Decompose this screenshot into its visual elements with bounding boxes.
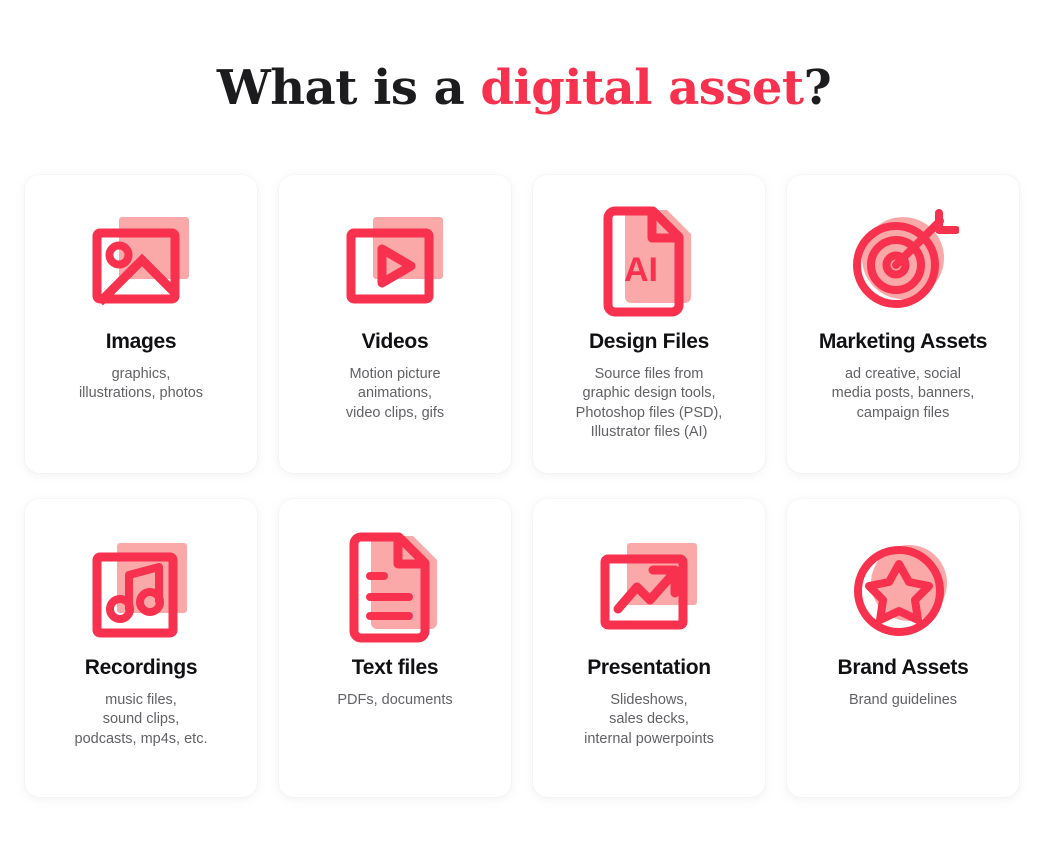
design-file-icon-label: AI <box>624 251 658 289</box>
asset-card-brand-assets[interactable]: Brand Assets Brand guidelines <box>787 499 1019 797</box>
card-title: Images <box>106 329 177 354</box>
text-file-icon <box>335 529 455 649</box>
asset-card-design-files[interactable]: AI Design Files Source files from graphi… <box>533 175 765 473</box>
card-title: Design Files <box>589 329 709 354</box>
page-title-accent: digital asset <box>480 60 803 116</box>
card-description: Source files from graphic design tools, … <box>566 365 733 442</box>
chart-presentation-icon <box>589 529 709 649</box>
asset-card-text-files[interactable]: Text files PDFs, documents <box>279 499 511 797</box>
card-title: Recordings <box>85 655 198 680</box>
page-title-prefix: What is a <box>217 60 481 116</box>
card-description: graphics, illustrations, photos <box>69 365 213 404</box>
asset-card-videos[interactable]: Videos Motion picture animations, video … <box>279 175 511 473</box>
design-file-ai-icon: AI <box>589 203 709 323</box>
card-description: Brand guidelines <box>839 691 967 710</box>
asset-type-grid: Images graphics, illustrations, photos V… <box>25 175 1023 797</box>
star-badge-icon <box>843 529 963 649</box>
card-title: Brand Assets <box>837 655 968 680</box>
card-description: PDFs, documents <box>327 691 462 710</box>
card-description: Motion picture animations, video clips, … <box>336 365 454 423</box>
card-description: ad creative, social media posts, banners… <box>822 365 985 423</box>
asset-card-marketing-assets[interactable]: Marketing Assets ad creative, social med… <box>787 175 1019 473</box>
asset-card-recordings[interactable]: Recordings music files, sound clips, pod… <box>25 499 257 797</box>
card-title: Text files <box>352 655 438 680</box>
page-title-suffix: ? <box>804 60 832 116</box>
card-description: music files, sound clips, podcasts, mp4s… <box>65 691 218 749</box>
video-icon <box>335 203 455 323</box>
asset-card-images[interactable]: Images graphics, illustrations, photos <box>25 175 257 473</box>
card-description: Slideshows, sales decks, internal powerp… <box>574 691 724 749</box>
card-title: Videos <box>362 329 429 354</box>
image-icon <box>81 203 201 323</box>
music-note-icon <box>81 529 201 649</box>
asset-card-presentation[interactable]: Presentation Slideshows, sales decks, in… <box>533 499 765 797</box>
card-title: Marketing Assets <box>819 329 987 354</box>
card-title: Presentation <box>587 655 711 680</box>
page-title: What is a digital asset? <box>0 0 1048 175</box>
target-icon <box>843 203 963 323</box>
